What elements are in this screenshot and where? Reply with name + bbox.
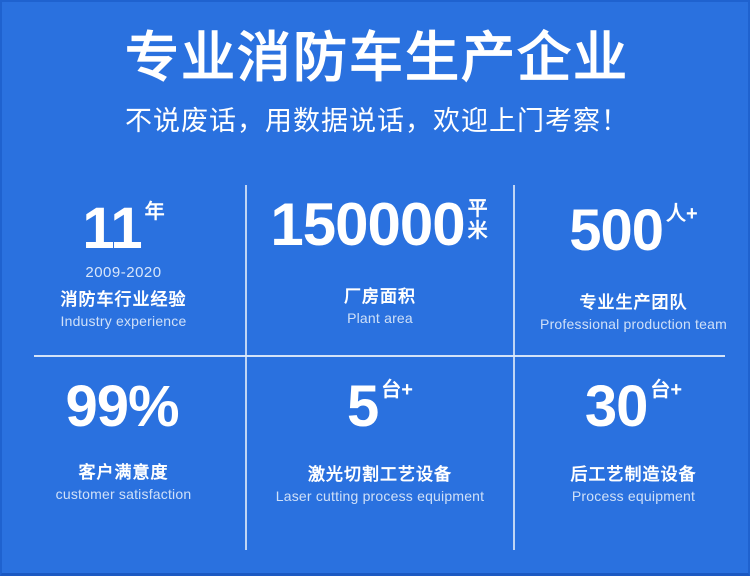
stat-value: 5 <box>347 376 378 438</box>
stat-value: 150000 <box>270 194 464 256</box>
stat-value-row: 30 台+ <box>515 376 750 438</box>
stat-label-en: Industry experience <box>2 313 245 329</box>
stats-grid: 11 年 2009-2020 消防车行业经验 Industry experien… <box>2 180 750 558</box>
stat-suffix: 台+ <box>381 380 413 401</box>
stat-cell-production-team: 500 人+ 专业生产团队 Professional production te… <box>515 190 750 355</box>
stat-value-row: 150000 平 米 <box>247 194 513 256</box>
stat-cell-process-equipment: 30 台+ 后工艺制造设备 Process equipment <box>515 370 750 535</box>
stat-suffix: 平 米 <box>468 198 490 242</box>
stat-value-row: 500 人+ <box>515 200 750 262</box>
stat-label-cn: 消防车行业经验 <box>2 285 245 310</box>
stat-label-cn: 专业生产团队 <box>515 288 750 313</box>
banner-header: 专业消防车生产企业 不说废话，用数据说话，欢迎上门考察！ <box>2 26 750 138</box>
stat-label-en: Process equipment <box>515 488 750 504</box>
horizontal-divider <box>34 355 725 357</box>
stat-label-cn: 厂房面积 <box>247 282 513 307</box>
stat-label-en: customer satisfaction <box>2 486 245 502</box>
stat-value-row: 11 年 <box>2 198 245 260</box>
stat-cell-industry-experience: 11 年 2009-2020 消防车行业经验 Industry experien… <box>2 190 245 355</box>
page-subtitle: 不说废话，用数据说话，欢迎上门考察！ <box>2 104 750 138</box>
stat-value-row: 5 台+ <box>247 376 513 438</box>
page-title: 专业消防车生产企业 <box>2 26 750 90</box>
stat-suffix: 人+ <box>666 204 698 225</box>
stat-label-cn: 激光切割工艺设备 <box>247 460 513 485</box>
stat-label-en: Plant area <box>247 310 513 326</box>
stat-value: 30 <box>585 376 648 438</box>
stat-cell-laser-cutting-equipment: 5 台+ 激光切割工艺设备 Laser cutting process equi… <box>247 370 513 535</box>
stat-value: 11 <box>82 198 141 260</box>
stat-label-cn: 客户满意度 <box>2 458 245 483</box>
stat-suffix: 年 <box>145 202 165 223</box>
stat-value-row: 99% <box>2 376 245 438</box>
stat-cell-plant-area: 150000 平 米 厂房面积 Plant area <box>247 190 513 355</box>
stat-value: 500 <box>569 200 663 262</box>
stat-suffix: 台+ <box>650 380 682 401</box>
stat-value: 99% <box>65 376 178 438</box>
stat-year-range: 2009-2020 <box>2 264 245 281</box>
stat-label-en: Laser cutting process equipment <box>247 488 513 504</box>
stat-cell-customer-satisfaction: 99% 客户满意度 customer satisfaction <box>2 370 245 535</box>
stat-label-en: Professional production team <box>515 316 750 332</box>
promo-banner: 专业消防车生产企业 不说废话，用数据说话，欢迎上门考察！ 11 年 2009-2… <box>0 0 750 576</box>
stat-label-cn: 后工艺制造设备 <box>515 460 750 485</box>
